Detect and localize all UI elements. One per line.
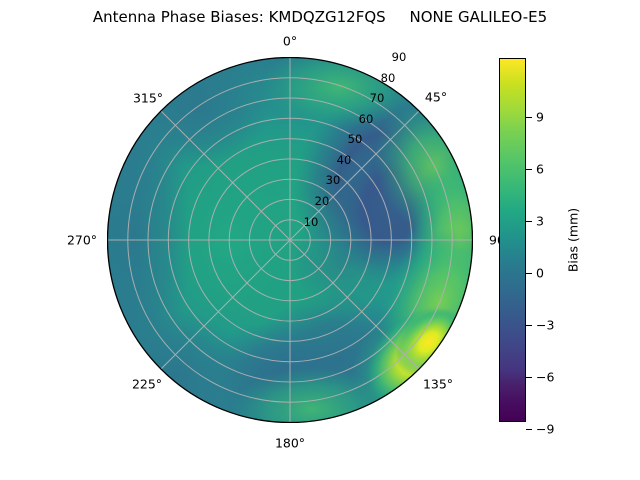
colorbar-tick-m3 — [526, 325, 532, 326]
colorbar-tick-0 — [526, 273, 532, 274]
r-label-30: 30 — [326, 173, 341, 187]
colorbar: 9 6 3 0 −3 −6 −9 Bias (mm) — [499, 57, 619, 423]
r-label-20: 20 — [315, 194, 330, 208]
colorbar-tick-3 — [526, 221, 532, 222]
theta-label-180: 180° — [275, 436, 305, 451]
theta-label-315: 315° — [133, 91, 163, 106]
colorbar-tick-m9 — [526, 429, 532, 430]
figure-canvas: Antenna Phase Biases: KMDQZG12FQS NONE G… — [0, 0, 640, 480]
colorbar-label-m9: −9 — [536, 422, 554, 437]
colorbar-label-0: 0 — [536, 266, 544, 281]
polar-grid-spokes — [108, 58, 473, 423]
colorbar-label-6: 6 — [536, 162, 544, 177]
colorbar-tick-6 — [526, 169, 532, 170]
theta-label-270: 270° — [67, 233, 97, 248]
theta-label-135: 135° — [423, 377, 453, 392]
r-label-90: 90 — [392, 50, 407, 64]
r-label-40: 40 — [337, 153, 352, 167]
r-label-60: 60 — [359, 112, 374, 126]
polar-axes: 0° 45° 90 135° 180° 225° 270° 315° 10 20… — [107, 57, 473, 423]
theta-label-225: 225° — [132, 377, 162, 392]
colorbar-tick-9 — [526, 117, 532, 118]
theta-label-0: 0° — [283, 34, 297, 49]
colorbar-gradient — [499, 58, 526, 422]
colorbar-label-m3: −3 — [536, 318, 554, 333]
theta-label-45: 45° — [425, 90, 447, 105]
colorbar-label-9: 9 — [536, 110, 544, 125]
r-label-80: 80 — [381, 71, 396, 85]
r-label-10: 10 — [304, 215, 319, 229]
polar-heatmap — [107, 57, 473, 423]
colorbar-label-3: 3 — [536, 214, 544, 229]
colorbar-label-m6: −6 — [536, 370, 554, 385]
colorbar-tick-m6 — [526, 377, 532, 378]
chart-title: Antenna Phase Biases: KMDQZG12FQS NONE G… — [0, 8, 640, 26]
r-label-70: 70 — [370, 91, 385, 105]
r-label-50: 50 — [348, 132, 363, 146]
colorbar-title: Bias (mm) — [566, 208, 581, 272]
